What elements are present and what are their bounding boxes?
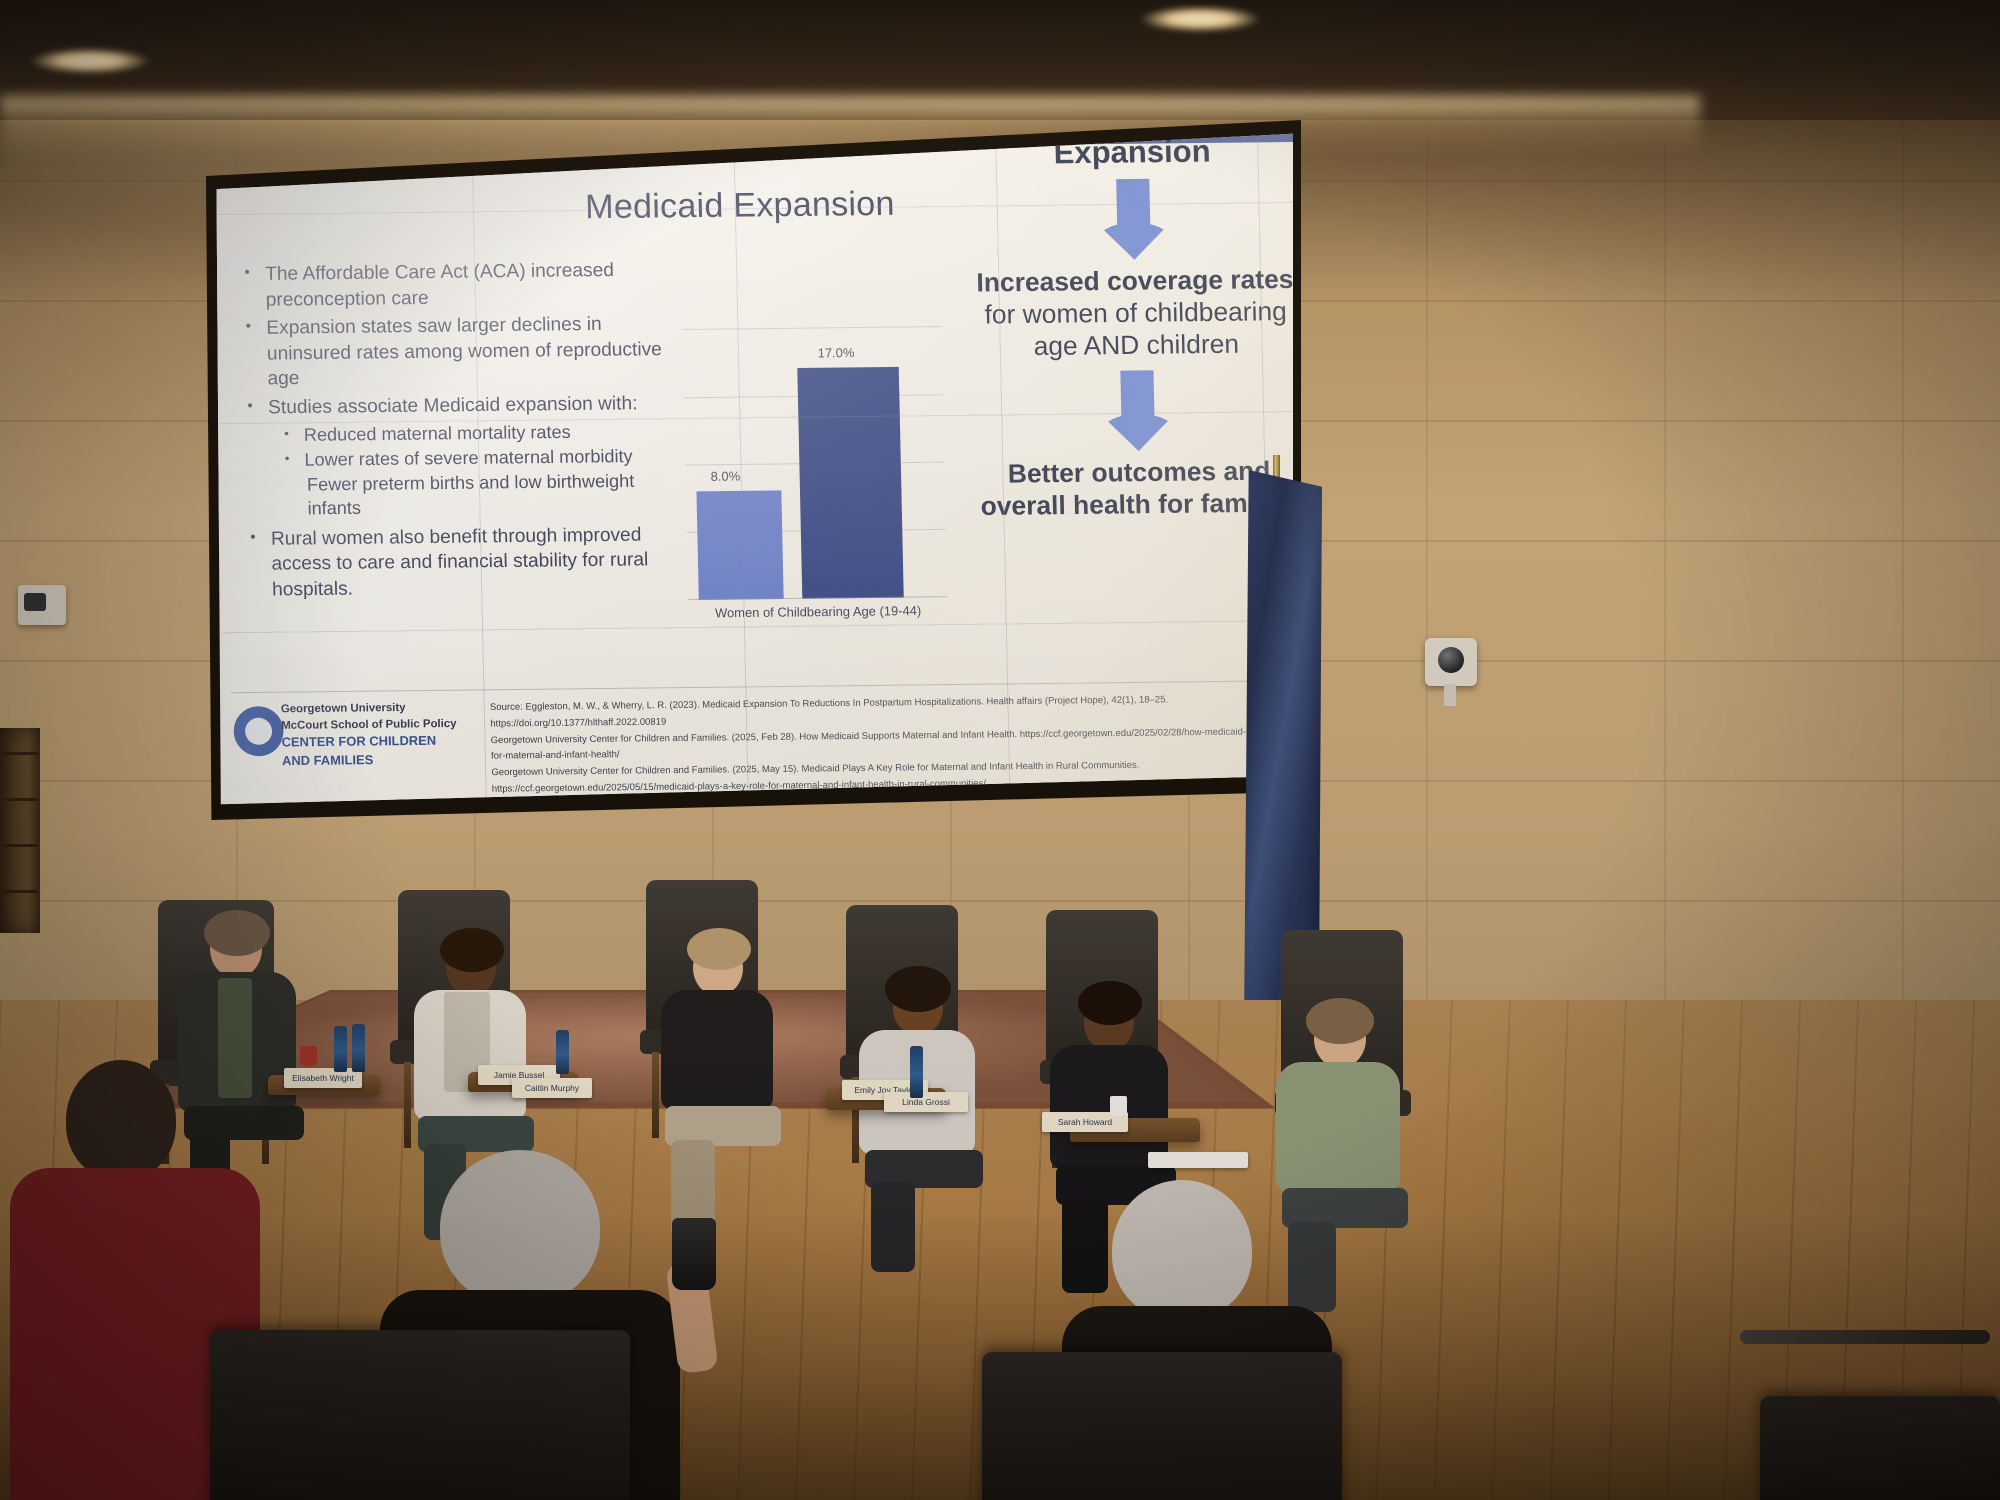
- bullet-dot-icon: •: [284, 423, 293, 447]
- org-line-3: CENTER FOR CHILDREN: [281, 732, 499, 753]
- wall-sensor: [18, 585, 66, 625]
- water-bottle: [910, 1046, 923, 1098]
- seat-back: [1760, 1396, 2000, 1500]
- bar-label-pre: 8.0%: [710, 469, 740, 484]
- nameplate-text: Sarah Howard: [1058, 1117, 1112, 1127]
- nameplate-text: Linda Grossi: [902, 1097, 950, 1107]
- organization-name: Georgetown University McCourt School of …: [281, 700, 500, 772]
- bullet-text: Studies associate Medicaid expansion wit…: [268, 391, 638, 421]
- sub-bullet-item: •Reduced maternal mortality rates: [284, 419, 678, 448]
- bullet-text: Rural women also benefit through improve…: [271, 521, 681, 602]
- nameplate: Caitlin Murphy: [512, 1078, 592, 1098]
- presentation-slide: Medicaid Expansion •The Affordable Care …: [210, 131, 1293, 807]
- bullet-text: Expansion states saw larger declines in …: [266, 311, 676, 392]
- coverage-statement-bold: Increased coverage rates: [976, 265, 1293, 298]
- slide-right-column: Expansion Increased coverage rates for w…: [950, 131, 1293, 524]
- outcomes-statement: Better outcomes and overall health for f…: [958, 456, 1293, 524]
- coverage-statement-rest: for women of childbearing age AND childr…: [984, 297, 1287, 361]
- projection-screen: Medicaid Expansion •The Affordable Care …: [210, 131, 1293, 807]
- slide-bullet-list: •The Affordable Care Act (ACA) increased…: [244, 257, 681, 606]
- coverage-statement: Increased coverage rates for women of ch…: [953, 264, 1293, 365]
- bullet-text: Lower rates of severe maternal morbidity: [304, 444, 633, 472]
- ceiling-light-fixture: [1140, 6, 1260, 32]
- water-bottle: [334, 1026, 347, 1072]
- bullet-dot-icon: •: [250, 526, 261, 602]
- bullet-dot-icon: •: [244, 261, 254, 312]
- org-line-4: AND FAMILIES: [282, 750, 500, 771]
- nameplate: Elisabeth Wright: [284, 1068, 362, 1088]
- coffee-cup: [300, 1046, 317, 1066]
- seat-back: [210, 1330, 630, 1500]
- nameplate-text: Elisabeth Wright: [292, 1073, 354, 1083]
- camera-mount: [1444, 684, 1456, 706]
- slide-title: Medicaid Expansion: [522, 183, 958, 227]
- bullet-text: Reduced maternal mortality rates: [304, 420, 571, 447]
- wall-camera-icon: [1425, 638, 1477, 686]
- travel-mug: [672, 1218, 716, 1290]
- bullet-text: The Affordable Care Act (ACA) increased …: [265, 257, 675, 313]
- bullet-dot-icon: •: [247, 395, 257, 421]
- sub-bullet-item: •Lower rates of severe maternal morbidit…: [285, 444, 679, 473]
- wall-shelf: [0, 728, 40, 933]
- seat-rail: [1740, 1330, 1990, 1344]
- bar-pre-expansion: [696, 490, 783, 600]
- bullet-item: •Studies associate Medicaid expansion wi…: [247, 390, 677, 420]
- down-arrow-icon: [1089, 178, 1178, 260]
- nameplate-text: Caitlin Murphy: [525, 1083, 579, 1093]
- chart-x-axis-label: Women of Childbearing Age (19-44): [689, 603, 948, 620]
- coffee-cup: [1110, 1096, 1127, 1116]
- gridline: [683, 326, 942, 330]
- nameplate: Linda Grossi: [884, 1092, 968, 1112]
- chart-plot-area: 8.0% 17.0%: [683, 326, 948, 600]
- bullet-item: •Rural women also benefit through improv…: [250, 521, 681, 602]
- water-bottle: [352, 1024, 365, 1072]
- paper-document: [1148, 1152, 1248, 1168]
- bar-chart: 8.0% 17.0% Women of Childbearing Age (19…: [683, 326, 949, 639]
- footer-divider: [231, 680, 1293, 694]
- bar-label-post: 17.0%: [818, 346, 855, 361]
- bullet-item: •The Affordable Care Act (ACA) increased…: [244, 257, 675, 313]
- bullet-dot-icon: •: [245, 315, 256, 391]
- sub-bullet-continuation: Fewer preterm births and low birthweight…: [307, 469, 680, 521]
- bar-post-expansion: [797, 367, 903, 599]
- water-bottle: [556, 1030, 569, 1074]
- seat-back: [982, 1352, 1342, 1500]
- bullet-item: •Expansion states saw larger declines in…: [245, 311, 676, 392]
- down-arrow-icon: [1093, 370, 1182, 452]
- ceiling-light-fixture: [30, 48, 150, 74]
- conference-room-scene: Medicaid Expansion •The Affordable Care …: [0, 0, 2000, 1500]
- bullet-dot-icon: •: [285, 448, 294, 472]
